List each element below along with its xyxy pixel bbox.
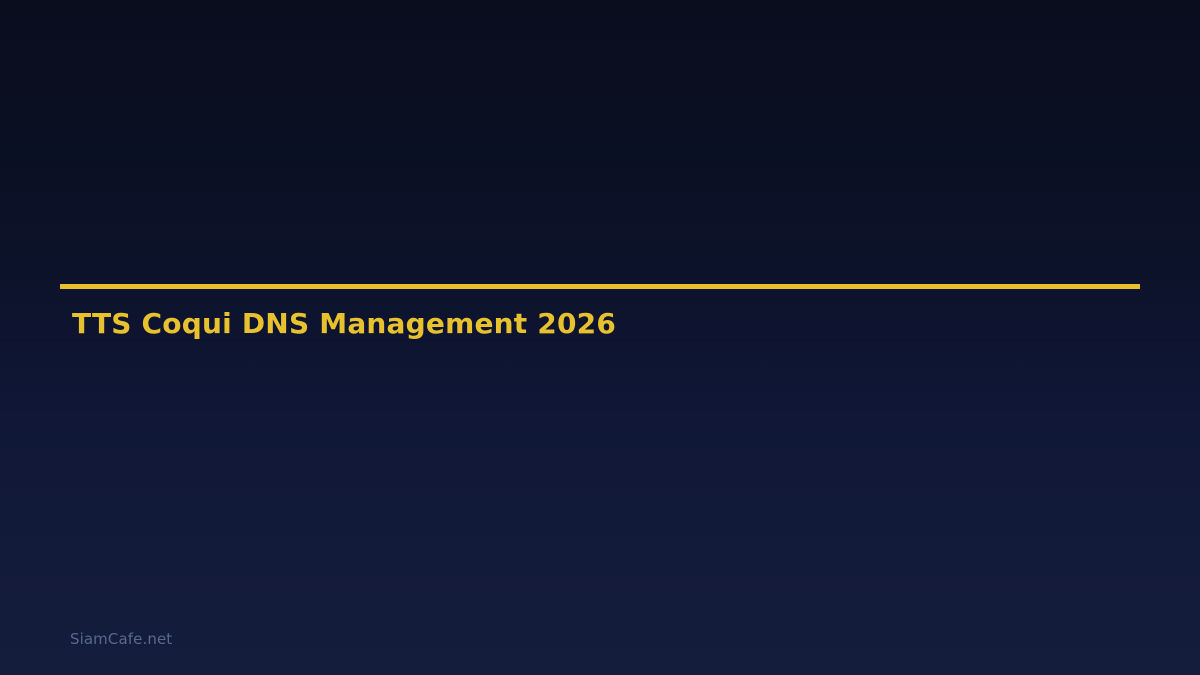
slide-body-content — [60, 360, 1140, 610]
title-block: TTS Coqui DNS Management 2026 — [60, 284, 1140, 289]
slide-footer-source: SiamCafe.net — [70, 629, 172, 649]
presentation-slide: TTS Coqui DNS Management 2026 SiamCafe.n… — [0, 0, 1200, 675]
slide-title: TTS Coqui DNS Management 2026 — [72, 307, 616, 341]
title-accent-rule — [60, 284, 1140, 289]
